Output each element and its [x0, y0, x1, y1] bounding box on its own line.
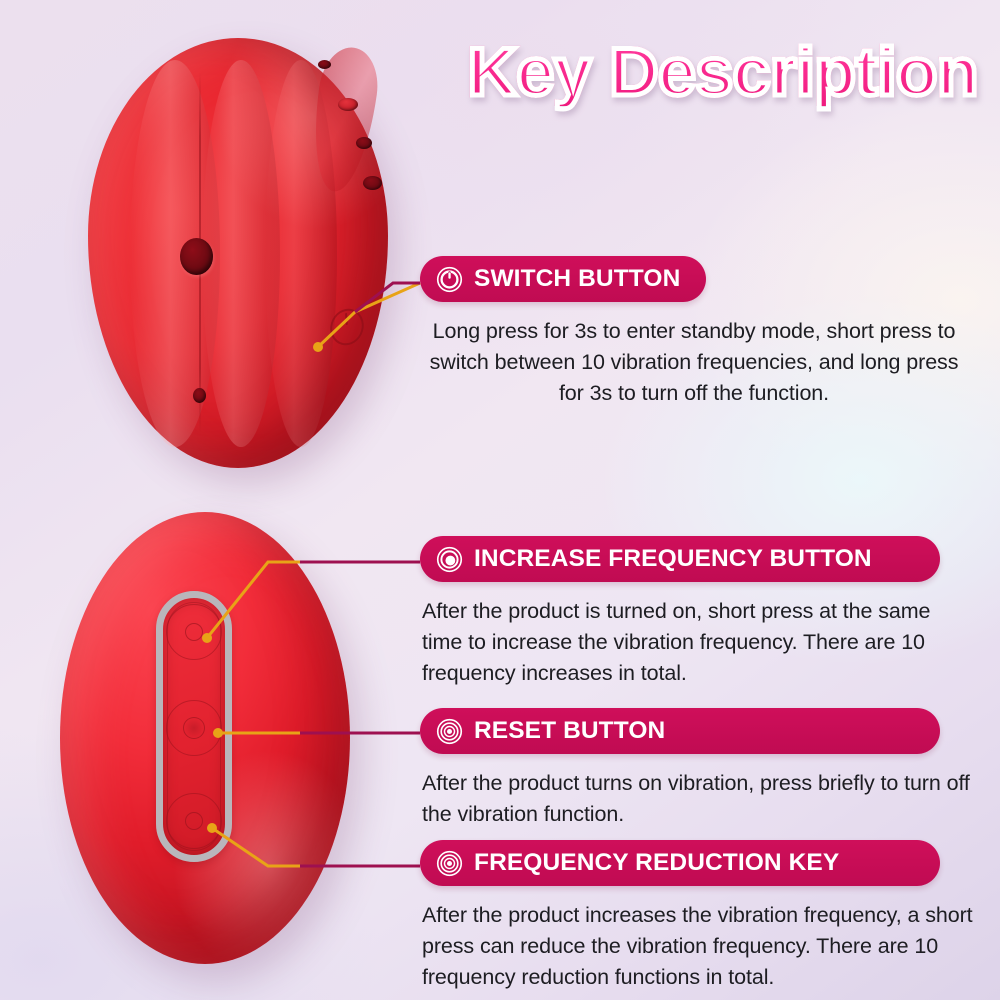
- power-icon: [436, 266, 463, 293]
- badge-increase-frequency-button[interactable]: INCREASE FREQUENCY BUTTON: [420, 536, 940, 582]
- badge-label: FREQUENCY REDUCTION KEY: [474, 849, 839, 877]
- callout-increase-frequency-button: INCREASE FREQUENCY BUTTON After the prod…: [420, 536, 980, 689]
- page-title: Key Description: [468, 38, 978, 106]
- badge-label: INCREASE FREQUENCY BUTTON: [474, 545, 872, 573]
- target-dot-icon: [436, 718, 463, 745]
- device-port: [356, 137, 372, 149]
- callout-description: After the product increases the vibratio…: [422, 900, 974, 993]
- device-main-opening: [180, 238, 213, 275]
- callout-switch-button: SWITCH BUTTON Long press for 3s to enter…: [420, 256, 980, 409]
- badge-reset-button[interactable]: RESET BUTTON: [420, 708, 940, 754]
- device-port: [318, 60, 331, 69]
- badge-label: SWITCH BUTTON: [474, 265, 680, 293]
- product-image-top: [88, 38, 388, 468]
- callout-description: After the product is turned on, short pr…: [422, 596, 974, 689]
- control-panel: [156, 591, 232, 862]
- device-port: [363, 176, 382, 190]
- increase-frequency-key-zone: [166, 604, 222, 660]
- callout-description: Long press for 3s to enter standby mode,…: [426, 316, 962, 409]
- target-dot-icon: [436, 850, 463, 877]
- reset-key-zone: [166, 700, 222, 756]
- callout-reset-button: RESET BUTTON After the product turns on …: [420, 708, 980, 830]
- product-image-bottom: [60, 512, 350, 964]
- badge-switch-button[interactable]: SWITCH BUTTON: [420, 256, 706, 302]
- frequency-reduction-key-zone: [166, 793, 222, 849]
- circle-disc-icon: [436, 546, 463, 573]
- badge-label: RESET BUTTON: [474, 717, 665, 745]
- callout-frequency-reduction-key: FREQUENCY REDUCTION KEY After the produc…: [420, 840, 980, 993]
- badge-frequency-reduction-key[interactable]: FREQUENCY REDUCTION KEY: [420, 840, 940, 886]
- callout-description: After the product turns on vibration, pr…: [422, 768, 974, 830]
- key-description-infographic: Key Description SWITCH BUTTON Long press…: [0, 0, 1000, 1000]
